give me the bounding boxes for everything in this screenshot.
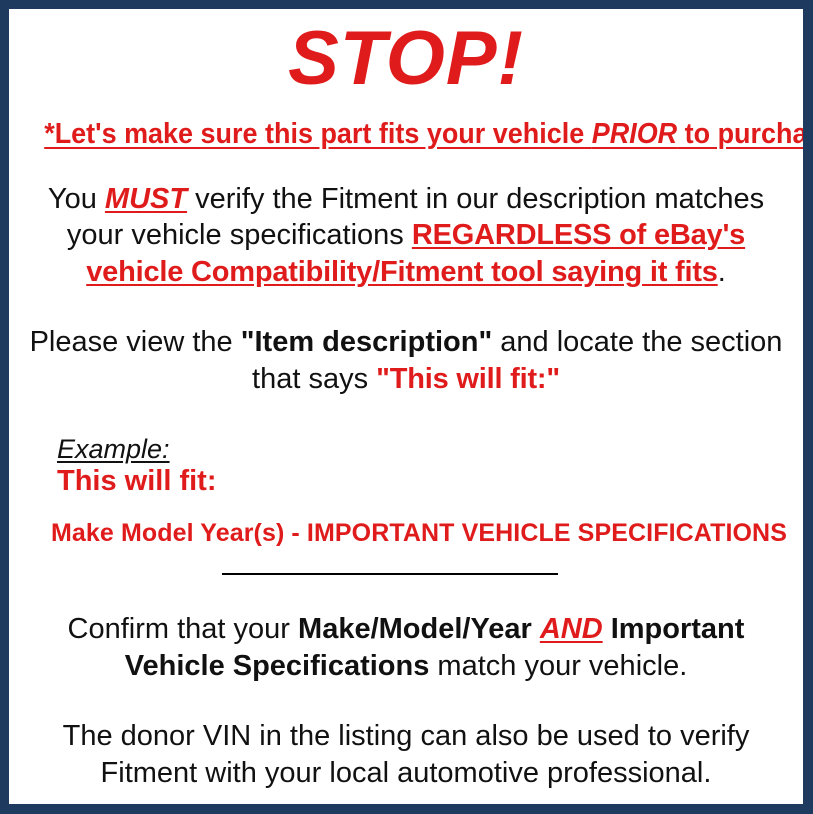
emphasis-this-will-fit: "This will fit:" bbox=[376, 363, 560, 395]
example-label-row: Example: bbox=[57, 434, 803, 464]
verify-segment-1: You bbox=[48, 183, 105, 215]
emphasis-item-description: "Item description" bbox=[241, 326, 492, 358]
paragraph-donor-vin: The donor VIN in the listing can also be… bbox=[9, 718, 803, 791]
paragraph-verify-fitment: You MUST verify the Fitment in our descr… bbox=[9, 181, 803, 291]
emphasis-must: MUST bbox=[105, 183, 187, 215]
view-segment-1: Please view the bbox=[30, 326, 241, 358]
divider-row bbox=[9, 569, 803, 581]
example-fit-heading: This will fit: bbox=[57, 466, 803, 498]
notice-content-panel: STOP! *Let's make sure this part fits yo… bbox=[9, 9, 803, 804]
example-label: Example: bbox=[57, 434, 170, 464]
notice-border-frame: STOP! *Let's make sure this part fits yo… bbox=[0, 0, 813, 814]
emphasis-make-model-year: Make/Model/Year bbox=[298, 613, 532, 645]
example-block: Example: This will fit: Make Model Year(… bbox=[9, 434, 803, 548]
example-spec-line: Make Model Year(s) - IMPORTANT VEHICLE S… bbox=[51, 520, 803, 548]
confirm-segment-1: Confirm that your bbox=[68, 613, 298, 645]
confirm-segment-3 bbox=[603, 613, 611, 645]
emphasis-and: AND bbox=[540, 613, 603, 645]
horizontal-divider bbox=[222, 573, 558, 575]
paragraph-view-description: Please view the "Item description" and l… bbox=[9, 324, 803, 397]
confirm-segment-2 bbox=[532, 613, 540, 645]
subtitle-text: *Let's make sure this part fits your veh… bbox=[44, 119, 803, 151]
stop-heading: STOP! bbox=[9, 21, 803, 97]
subtitle-segment-before: *Let's make sure this part fits your veh… bbox=[44, 118, 592, 150]
subtitle-emphasis-prior: PRIOR bbox=[592, 118, 677, 150]
confirm-segment-4: match your vehicle. bbox=[429, 650, 687, 682]
subtitle-segment-after: to purchasing* bbox=[677, 118, 803, 150]
subtitle-row: *Let's make sure this part fits your veh… bbox=[9, 119, 803, 151]
paragraph-confirm: Confirm that your Make/Model/Year AND Im… bbox=[9, 611, 803, 684]
verify-segment-3: . bbox=[718, 256, 726, 288]
